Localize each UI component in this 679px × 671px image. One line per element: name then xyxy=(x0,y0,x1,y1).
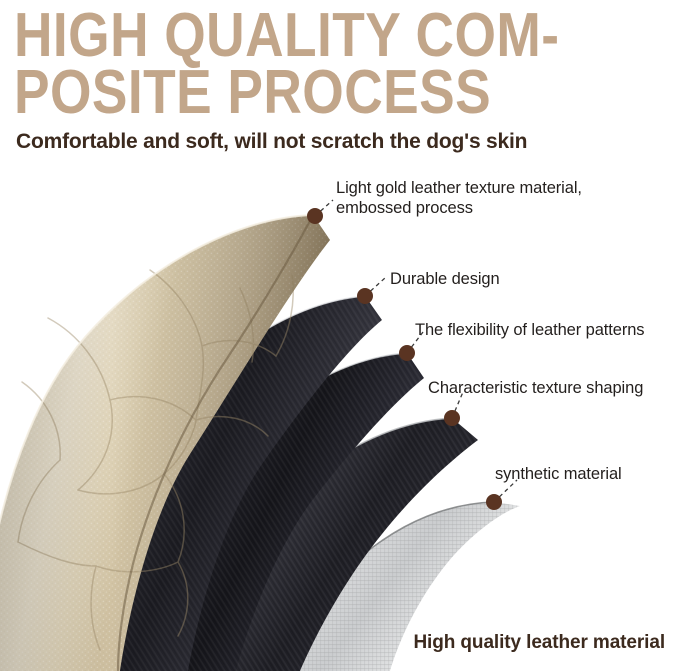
callout-dot-synthetic-material xyxy=(486,494,502,510)
callout-label-leather-flexibility: The flexibility of leather patterns xyxy=(415,320,644,340)
subtitle-text: Comfortable and soft, will not scratch t… xyxy=(16,130,527,154)
layered-material-diagram xyxy=(0,168,679,671)
headline-block: HIGH QUALITY COM- POSITE PROCESS xyxy=(14,0,674,121)
callout-label-light-gold-leather: Light gold leather texture material, emb… xyxy=(336,178,582,218)
callout-dot-texture-shaping xyxy=(444,410,460,426)
headline-line-2: POSITE PROCESS xyxy=(14,64,582,121)
bottom-caption-text: High quality leather material xyxy=(413,632,665,654)
callout-label-texture-shaping: Characteristic texture shaping xyxy=(428,378,643,398)
callout-dot-light-gold-leather xyxy=(307,208,323,224)
callout-label-durable-design: Durable design xyxy=(390,269,500,289)
material-cross-section-illustration: Light gold leather texture material, emb… xyxy=(0,168,679,671)
callout-label-synthetic-material: synthetic material xyxy=(495,464,622,484)
callout-dot-leather-flexibility xyxy=(399,345,415,361)
headline-line-1: HIGH QUALITY COM- xyxy=(14,7,582,64)
callout-dot-durable-design xyxy=(357,288,373,304)
